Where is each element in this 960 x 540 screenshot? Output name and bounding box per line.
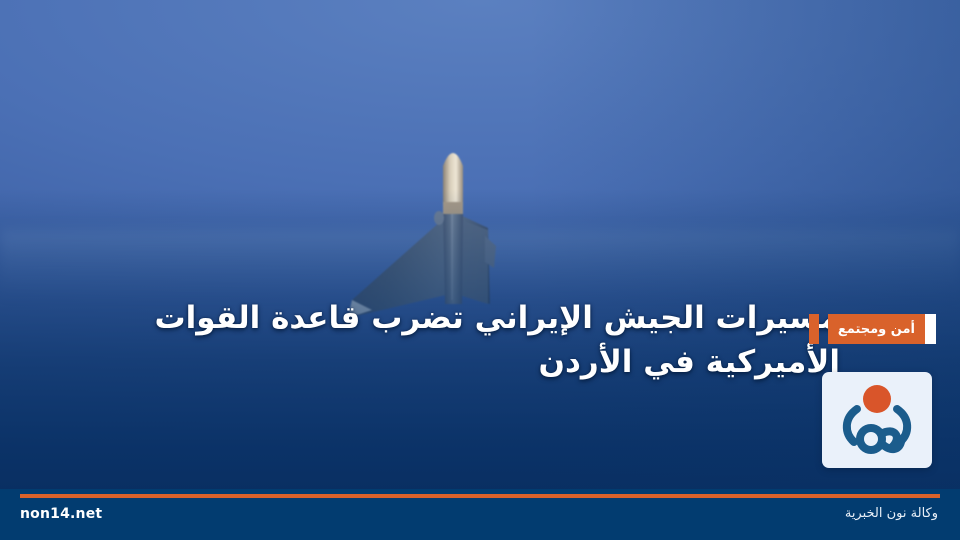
news-card: مسيرات الجيش الإيراني تضرب قاعدة القوات … <box>0 0 960 540</box>
badge-orange-tick <box>809 314 819 344</box>
noon-news-agency-logo-icon <box>835 382 919 458</box>
footer-bar: non14.net وكالة نون الخبرية <box>0 489 960 540</box>
hero-photo <box>0 0 960 489</box>
footer-rule <box>20 494 940 498</box>
badge-white-cap <box>925 314 936 344</box>
category-label: أمن ومجتمع <box>828 314 925 344</box>
side-scrim <box>0 0 960 489</box>
logo-plate[interactable] <box>822 372 932 468</box>
agency-name: وكالة نون الخبرية <box>845 506 938 521</box>
headline-text: مسيرات الجيش الإيراني تضرب قاعدة القوات … <box>100 296 840 384</box>
site-name[interactable]: non14.net <box>20 506 102 522</box>
category-badge[interactable]: أمن ومجتمع <box>809 314 936 344</box>
headline-block: مسيرات الجيش الإيراني تضرب قاعدة القوات … <box>100 296 840 384</box>
